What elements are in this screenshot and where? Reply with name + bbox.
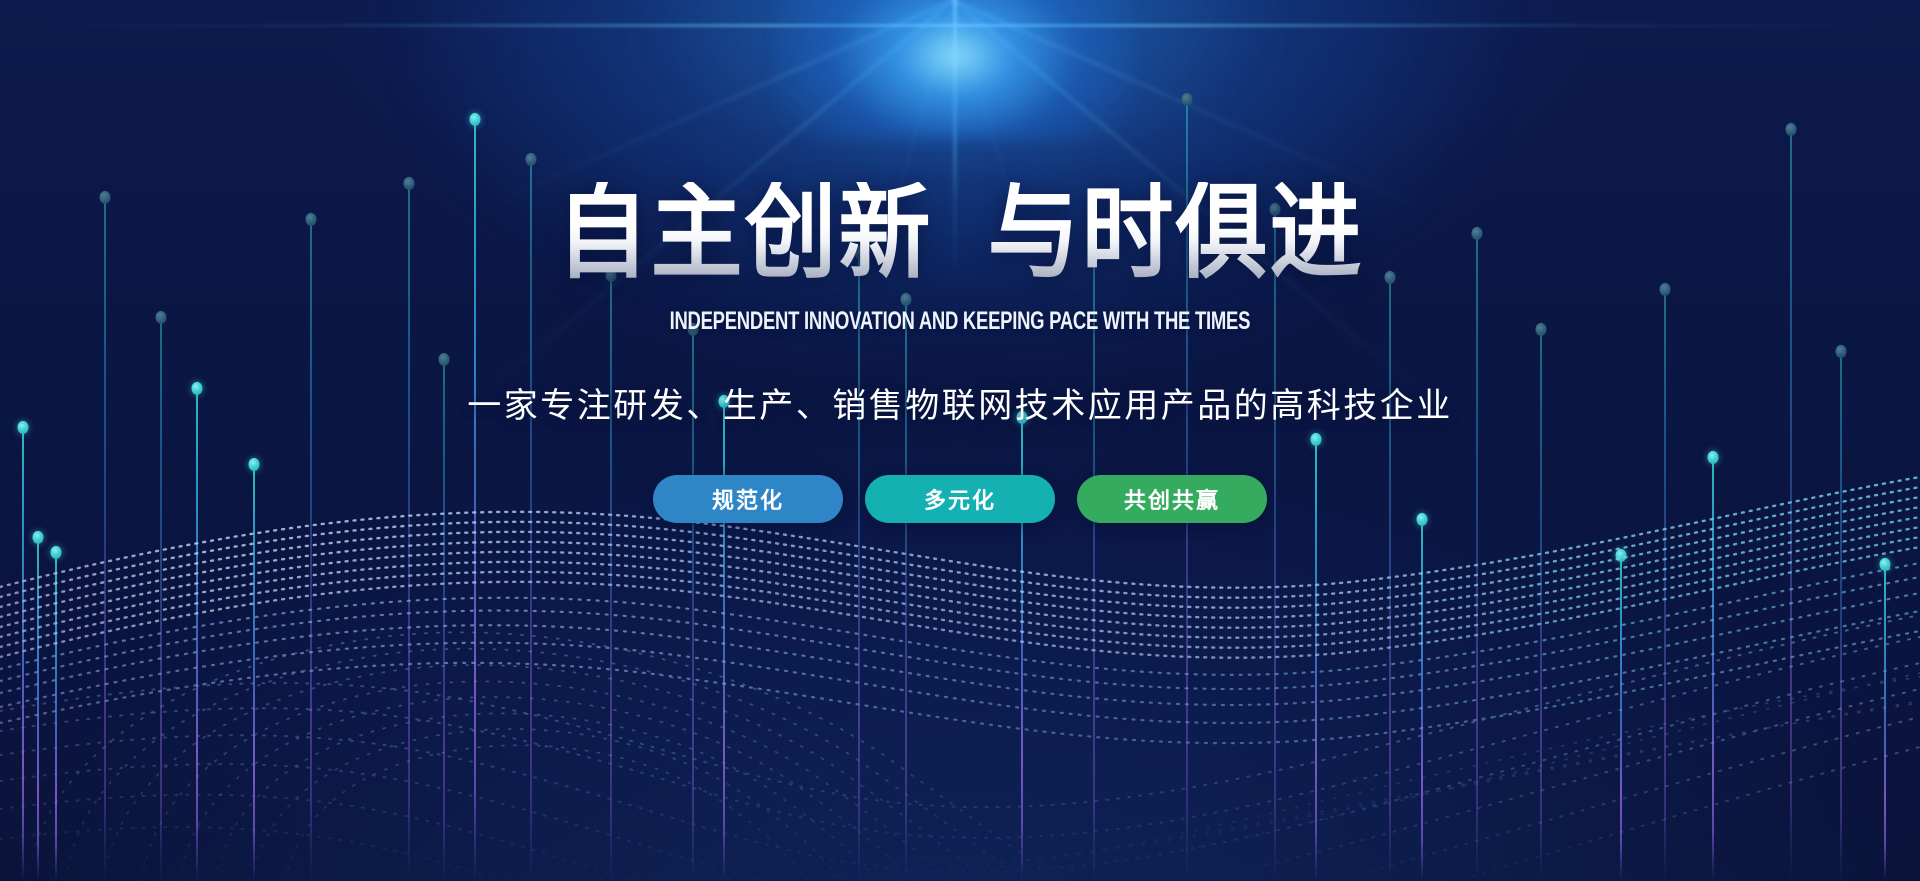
- pin-dot-icon: [1660, 283, 1671, 296]
- pin-dot-icon: [688, 323, 699, 336]
- pin-dot-icon: [1385, 271, 1396, 284]
- lens-flare-ray: [479, 0, 955, 212]
- pin-dot-icon: [1270, 203, 1281, 216]
- pin-dot-icon: [1836, 345, 1847, 358]
- tag-pill-diversification[interactable]: 多元化: [865, 475, 1055, 523]
- pin-dot-icon: [1536, 323, 1547, 336]
- lens-flare-ray: [954, 0, 1430, 213]
- pin-dot-icon: [526, 153, 537, 166]
- lens-flare-ray: [479, 0, 955, 399]
- tag-pill-group: 规范化 多元化 共创共赢: [653, 475, 1267, 523]
- pin-dot-icon: [156, 311, 167, 324]
- lens-flare-ray: [953, 0, 1038, 289]
- pin-dot-icon: [439, 353, 450, 366]
- lens-flare-vertical-streak: [953, 0, 957, 280]
- pin-dot-icon: [192, 382, 203, 395]
- pin-dot-icon: [606, 269, 617, 282]
- tag-pill-standardization[interactable]: 规范化: [653, 475, 843, 523]
- pin-dot-icon: [404, 177, 415, 190]
- lens-flare-horizontal-streak: [0, 24, 1920, 27]
- page-title: 自主创新 与时俱进: [556, 182, 1363, 285]
- pin-dot-icon: [470, 113, 481, 126]
- pin-dot-icon: [901, 293, 912, 306]
- pin-dot-icon: [1089, 249, 1100, 262]
- lens-flare-ray: [870, 0, 955, 288]
- subtitle-english: INDEPENDENT INNOVATION AND KEEPING PACE …: [670, 308, 1251, 336]
- tag-pill-win-win[interactable]: 共创共赢: [1077, 475, 1267, 523]
- pin-dot-icon: [306, 213, 317, 226]
- pin-dot-icon: [854, 246, 865, 259]
- pin-dot-icon: [1472, 227, 1483, 240]
- pin-dot-icon: [100, 191, 111, 204]
- hero-banner: 自主创新 与时俱进 INDEPENDENT INNOVATION AND KEE…: [0, 0, 1920, 881]
- lens-flare-ray: [954, 0, 1430, 400]
- pin-dot-icon: [719, 395, 730, 408]
- pin-dot-icon: [1786, 123, 1797, 136]
